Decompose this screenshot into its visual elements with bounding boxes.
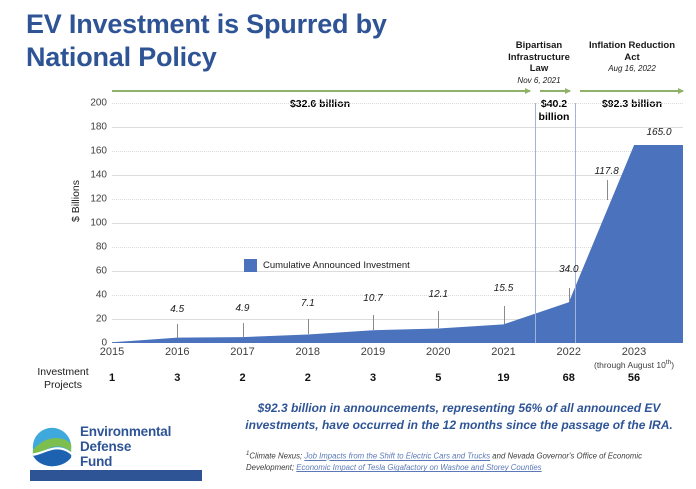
annotation-date: Aug 16, 2022	[586, 64, 678, 74]
footnote-link-job-impacts[interactable]: Job Impacts from the Shift to Electric C…	[304, 452, 490, 461]
annotation-bipartisan-infrastructure-law: Bipartisan Infrastructure Law Nov 6, 202…	[500, 40, 578, 86]
data-label-2018: 7.1	[301, 298, 315, 309]
y-tick-label-180: 180	[67, 122, 107, 133]
data-label-leader-2019	[373, 315, 374, 330]
chart-legend: Cumulative Announced Investment	[244, 259, 410, 272]
data-label-2020: 12.1	[429, 289, 448, 300]
area-series-cumulative-announced-investment	[112, 103, 683, 343]
footnote-link-tesla-gigafactory[interactable]: Economic Impact of Tesla Gigafactory on …	[296, 463, 541, 472]
y-tick-label-40: 40	[67, 290, 107, 301]
investment-projects-value-2022: 68	[539, 372, 599, 384]
y-tick-label-100: 100	[67, 218, 107, 229]
y-tick-label-60: 60	[67, 266, 107, 277]
investment-projects-value-2015: 1	[82, 372, 142, 384]
edf-wordmark: Environmental Defense Fund	[80, 424, 171, 469]
y-tick-label-80: 80	[67, 242, 107, 253]
data-label-leader-2022	[569, 288, 570, 302]
x-tick-year: 2019	[361, 346, 385, 358]
data-label-leader-2018	[308, 319, 309, 334]
edf-logo: Environmental Defense Fund	[32, 424, 171, 469]
callout-text: $92.3 billion in announcements, represen…	[228, 400, 690, 435]
footnote: 1Climate Nexus; Job Impacts from the Shi…	[246, 450, 690, 474]
data-label-2023-end: 165.0	[646, 127, 671, 138]
x-tick-year: 2016	[165, 346, 189, 358]
legend-swatch-icon	[244, 259, 257, 272]
edf-globe-icon	[32, 427, 72, 467]
x-tick-year: 2023	[622, 346, 646, 358]
x-tick-year: 2022	[557, 346, 581, 358]
annotation-date: Nov 6, 2021	[500, 76, 578, 86]
slide-root: EV Investment is Spurred by National Pol…	[0, 0, 696, 489]
page-title: EV Investment is Spurred by National Pol…	[26, 8, 446, 74]
x-tick-year: 2018	[296, 346, 320, 358]
x-tick-note: (through August 10th)	[589, 359, 679, 370]
x-tick-label-2023: 2023(through August 10th)	[589, 346, 679, 370]
y-tick-label-20: 20	[67, 314, 107, 325]
investment-projects-value-2020: 5	[408, 372, 468, 384]
x-tick-year: 2015	[100, 346, 124, 358]
accent-bar	[30, 470, 202, 481]
annotation-inflation-reduction-act: Inflation Reduction Act Aug 16, 2022	[586, 40, 678, 75]
investment-projects-value-2016: 3	[147, 372, 207, 384]
data-label-leader-2021	[504, 306, 505, 324]
green-arrow-icon-period-2	[540, 90, 570, 92]
x-tick-year: 2021	[491, 346, 515, 358]
chart-plot-area: Cumulative Announced Investment 4.54.97.…	[112, 103, 683, 343]
green-arrow-icon-period-1	[112, 90, 530, 92]
y-tick-label-140: 140	[67, 170, 107, 181]
data-label-2022: 34.0	[559, 264, 578, 275]
event-marker-line-inflation-reduction-act	[575, 103, 576, 343]
data-label-2016: 4.5	[170, 304, 184, 315]
investment-projects-value-2018: 2	[278, 372, 338, 384]
data-label-leader-2023-mid	[607, 180, 608, 200]
legend-label: Cumulative Announced Investment	[263, 260, 410, 271]
annotation-name: Bipartisan Infrastructure Law	[500, 40, 578, 75]
edf-wordmark-line-2: Defense	[80, 439, 171, 454]
y-tick-label-160: 160	[67, 146, 107, 157]
investment-projects-value-2023: 56	[604, 372, 664, 384]
investment-projects-value-2017: 2	[213, 372, 273, 384]
x-tick-year: 2020	[426, 346, 450, 358]
y-tick-label-200: 200	[67, 98, 107, 109]
data-label-2017: 4.9	[236, 303, 250, 314]
edf-wordmark-line-1: Environmental	[80, 424, 171, 439]
data-label-2021: 15.5	[494, 283, 513, 294]
data-label-leader-2017	[243, 323, 244, 337]
edf-wordmark-line-3: Fund	[80, 454, 171, 469]
investment-projects-value-2019: 3	[343, 372, 403, 384]
event-marker-line-bipartisan-infrastructure-law	[535, 103, 536, 343]
data-label-leader-2016	[177, 324, 178, 338]
green-arrow-icon-period-3	[580, 90, 683, 92]
footnote-part-1: Climate Nexus;	[249, 452, 304, 461]
investment-projects-value-2021: 19	[474, 372, 534, 384]
data-label-2023-mid: 117.8	[594, 166, 618, 177]
y-tick-label-120: 120	[67, 194, 107, 205]
investment-projects-label-text: Investment Projects	[37, 366, 88, 391]
annotation-name: Inflation Reduction Act	[586, 40, 678, 63]
data-label-2019: 10.7	[363, 293, 382, 304]
data-label-leader-2020	[438, 311, 439, 328]
x-tick-year: 2017	[230, 346, 254, 358]
